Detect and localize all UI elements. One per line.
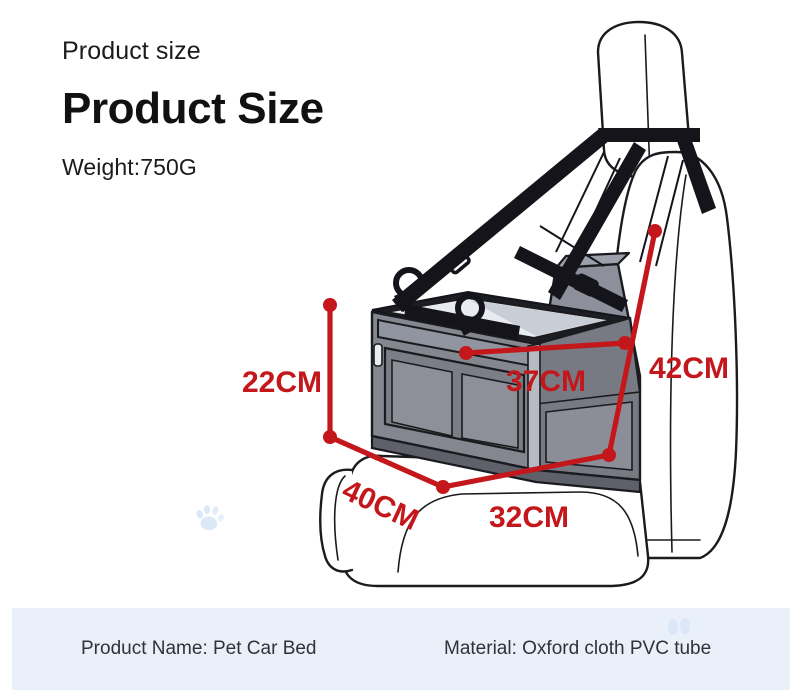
footer-product-name: Product Name: Pet Car Bed bbox=[81, 638, 317, 660]
strap-thin-b bbox=[572, 158, 620, 262]
carrier-left-mesh-inner bbox=[392, 360, 452, 436]
paw-print-icon bbox=[195, 505, 225, 530]
dimension-37cm-label: 37CM bbox=[506, 365, 586, 398]
product-size-infographic: Product size Product Size Weight:750G .i… bbox=[0, 0, 811, 697]
dimension-42cm-label: 42CM bbox=[649, 352, 729, 385]
footer-band: Product Name: Pet Car Bed Material: Oxfo… bbox=[12, 608, 790, 690]
dimension-32cm-label: 32CM bbox=[489, 501, 569, 534]
product-diagram: .ink { fill:none; stroke:#1b1b1f; stroke… bbox=[0, 0, 811, 620]
dimension-22cm: 22CM bbox=[242, 298, 337, 444]
footer-material: Material: Oxford cloth PVC tube bbox=[444, 638, 711, 660]
carrier-zipper-tab bbox=[374, 344, 382, 366]
dimension-22cm-label: 22CM bbox=[242, 366, 322, 399]
carrier-corner-strip bbox=[528, 344, 540, 470]
